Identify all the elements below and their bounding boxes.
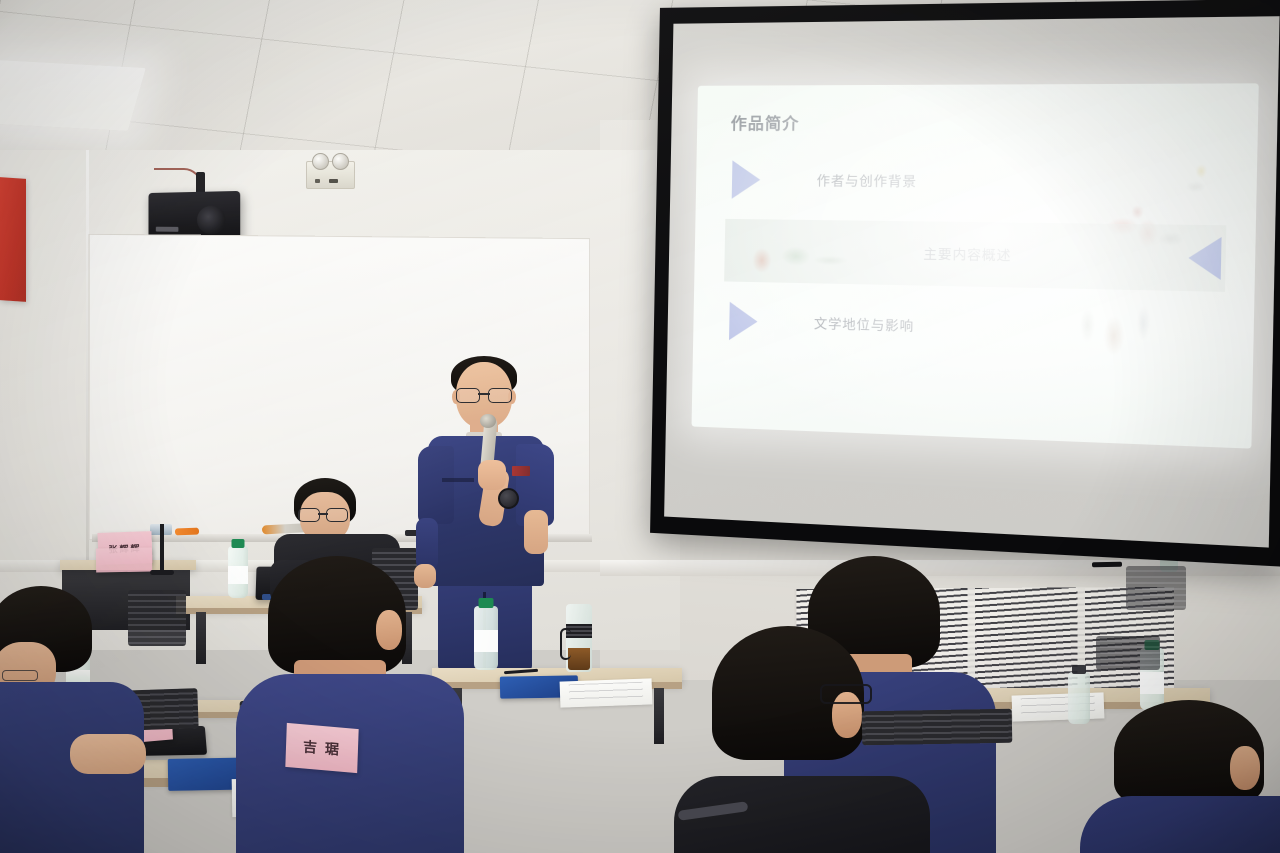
chair-back-right-2 [1096,636,1160,670]
handout-center [560,678,653,707]
presenter-hand-holding-mic [478,460,506,490]
student-ear [1230,746,1260,790]
slide-row-3: 文学地位与影响 [722,289,1224,366]
slide-illustration-statue [1072,290,1195,378]
student-hand [70,734,146,774]
bottle-cap [232,539,245,548]
desk-operator-leg [196,612,206,664]
bottle-label [228,566,248,584]
glasses-bridge [478,393,490,395]
emergency-lamp-right [332,153,349,170]
emergency-lamp-left [312,153,329,170]
thermos-strap [560,628,571,660]
slide-row-1: 作者与创作背景 [725,148,1228,216]
name-card-stack-2 [96,548,152,573]
name-card-ji[interactable]: 吉 琚 [285,723,358,773]
speaker-cone [197,206,225,235]
bottle-cap [1072,665,1086,674]
slide-content: 作品简介 作者与创作背景 主要内容概述 文学地位与影响 [691,83,1258,449]
projected-slide: 作品简介 作者与创作背景 主要内容概述 文学地位与影响 [691,83,1258,449]
triangle-right-icon-2 [729,301,758,340]
emergency-label [329,179,338,183]
glasses-lens-left [456,388,480,403]
presenter-chest-pocket [442,478,474,482]
presenter-sleeve-left [418,446,454,524]
student-front-left [0,586,150,853]
student-front-center [254,556,454,853]
emergency-light [306,161,355,189]
tea-thermos [566,604,592,672]
classroom-photo: 作品简介 作者与创作背景 主要内容概述 文学地位与影响 [0,0,1280,853]
name-card-ji-text: 吉 琚 [303,736,341,759]
slide-row-2-label: 主要内容概述 [724,240,1226,268]
bottle-label [1140,672,1164,694]
glasses-bridge [318,513,328,515]
glasses-lens-right [326,508,348,522]
student-far-right [1090,700,1280,853]
chair-back-right [862,709,1013,746]
microphone-head [480,414,496,428]
slide-illustration-bird [1177,156,1223,206]
glasses-icon [820,684,872,704]
projection-screen: 作品简介 作者与创作背景 主要内容概述 文学地位与影响 [650,0,1280,567]
glasses-icon [456,388,512,401]
red-banner [0,177,26,302]
ceiling-light-panel [0,60,146,131]
wristwatch [498,488,519,509]
bottle-cap [479,598,494,608]
microphone-stand-pole [160,524,164,574]
chairs-back-wall [1126,566,1186,610]
glasses-icon [298,508,348,520]
glasses-lens-right [488,388,512,403]
presenter-arm-right [524,510,548,554]
water-bottle-center [474,606,498,670]
slide-row-1-label: 作者与创作背景 [817,170,917,190]
desk-leg-2 [654,688,664,744]
screen-surface: 作品简介 作者与创作背景 主要内容概述 文学地位与影响 [664,16,1279,547]
slide-row-2: 主要内容概述 [724,218,1226,291]
thermos-contents [568,648,590,670]
whiteboard-marker [175,528,199,536]
student-ear [376,610,402,650]
uniform-logo [512,466,530,476]
bottle-label [474,630,498,652]
student-uniform [1080,796,1280,853]
triangle-right-icon [731,160,760,199]
microphone-stand-base [150,570,174,575]
slide-title: 作品简介 [731,109,1229,135]
glasses-icon [2,670,38,681]
pen [1092,562,1122,568]
water-bottle-right-2 [1068,672,1090,724]
speaker-logo [156,227,179,232]
handout-text-lines [569,682,643,704]
glasses-lens-left [298,508,320,522]
slide-row-3-label: 文学地位与影响 [814,313,914,335]
triangle-left-icon [1188,236,1222,279]
emergency-led [315,179,320,183]
water-bottle-operator [228,546,248,598]
